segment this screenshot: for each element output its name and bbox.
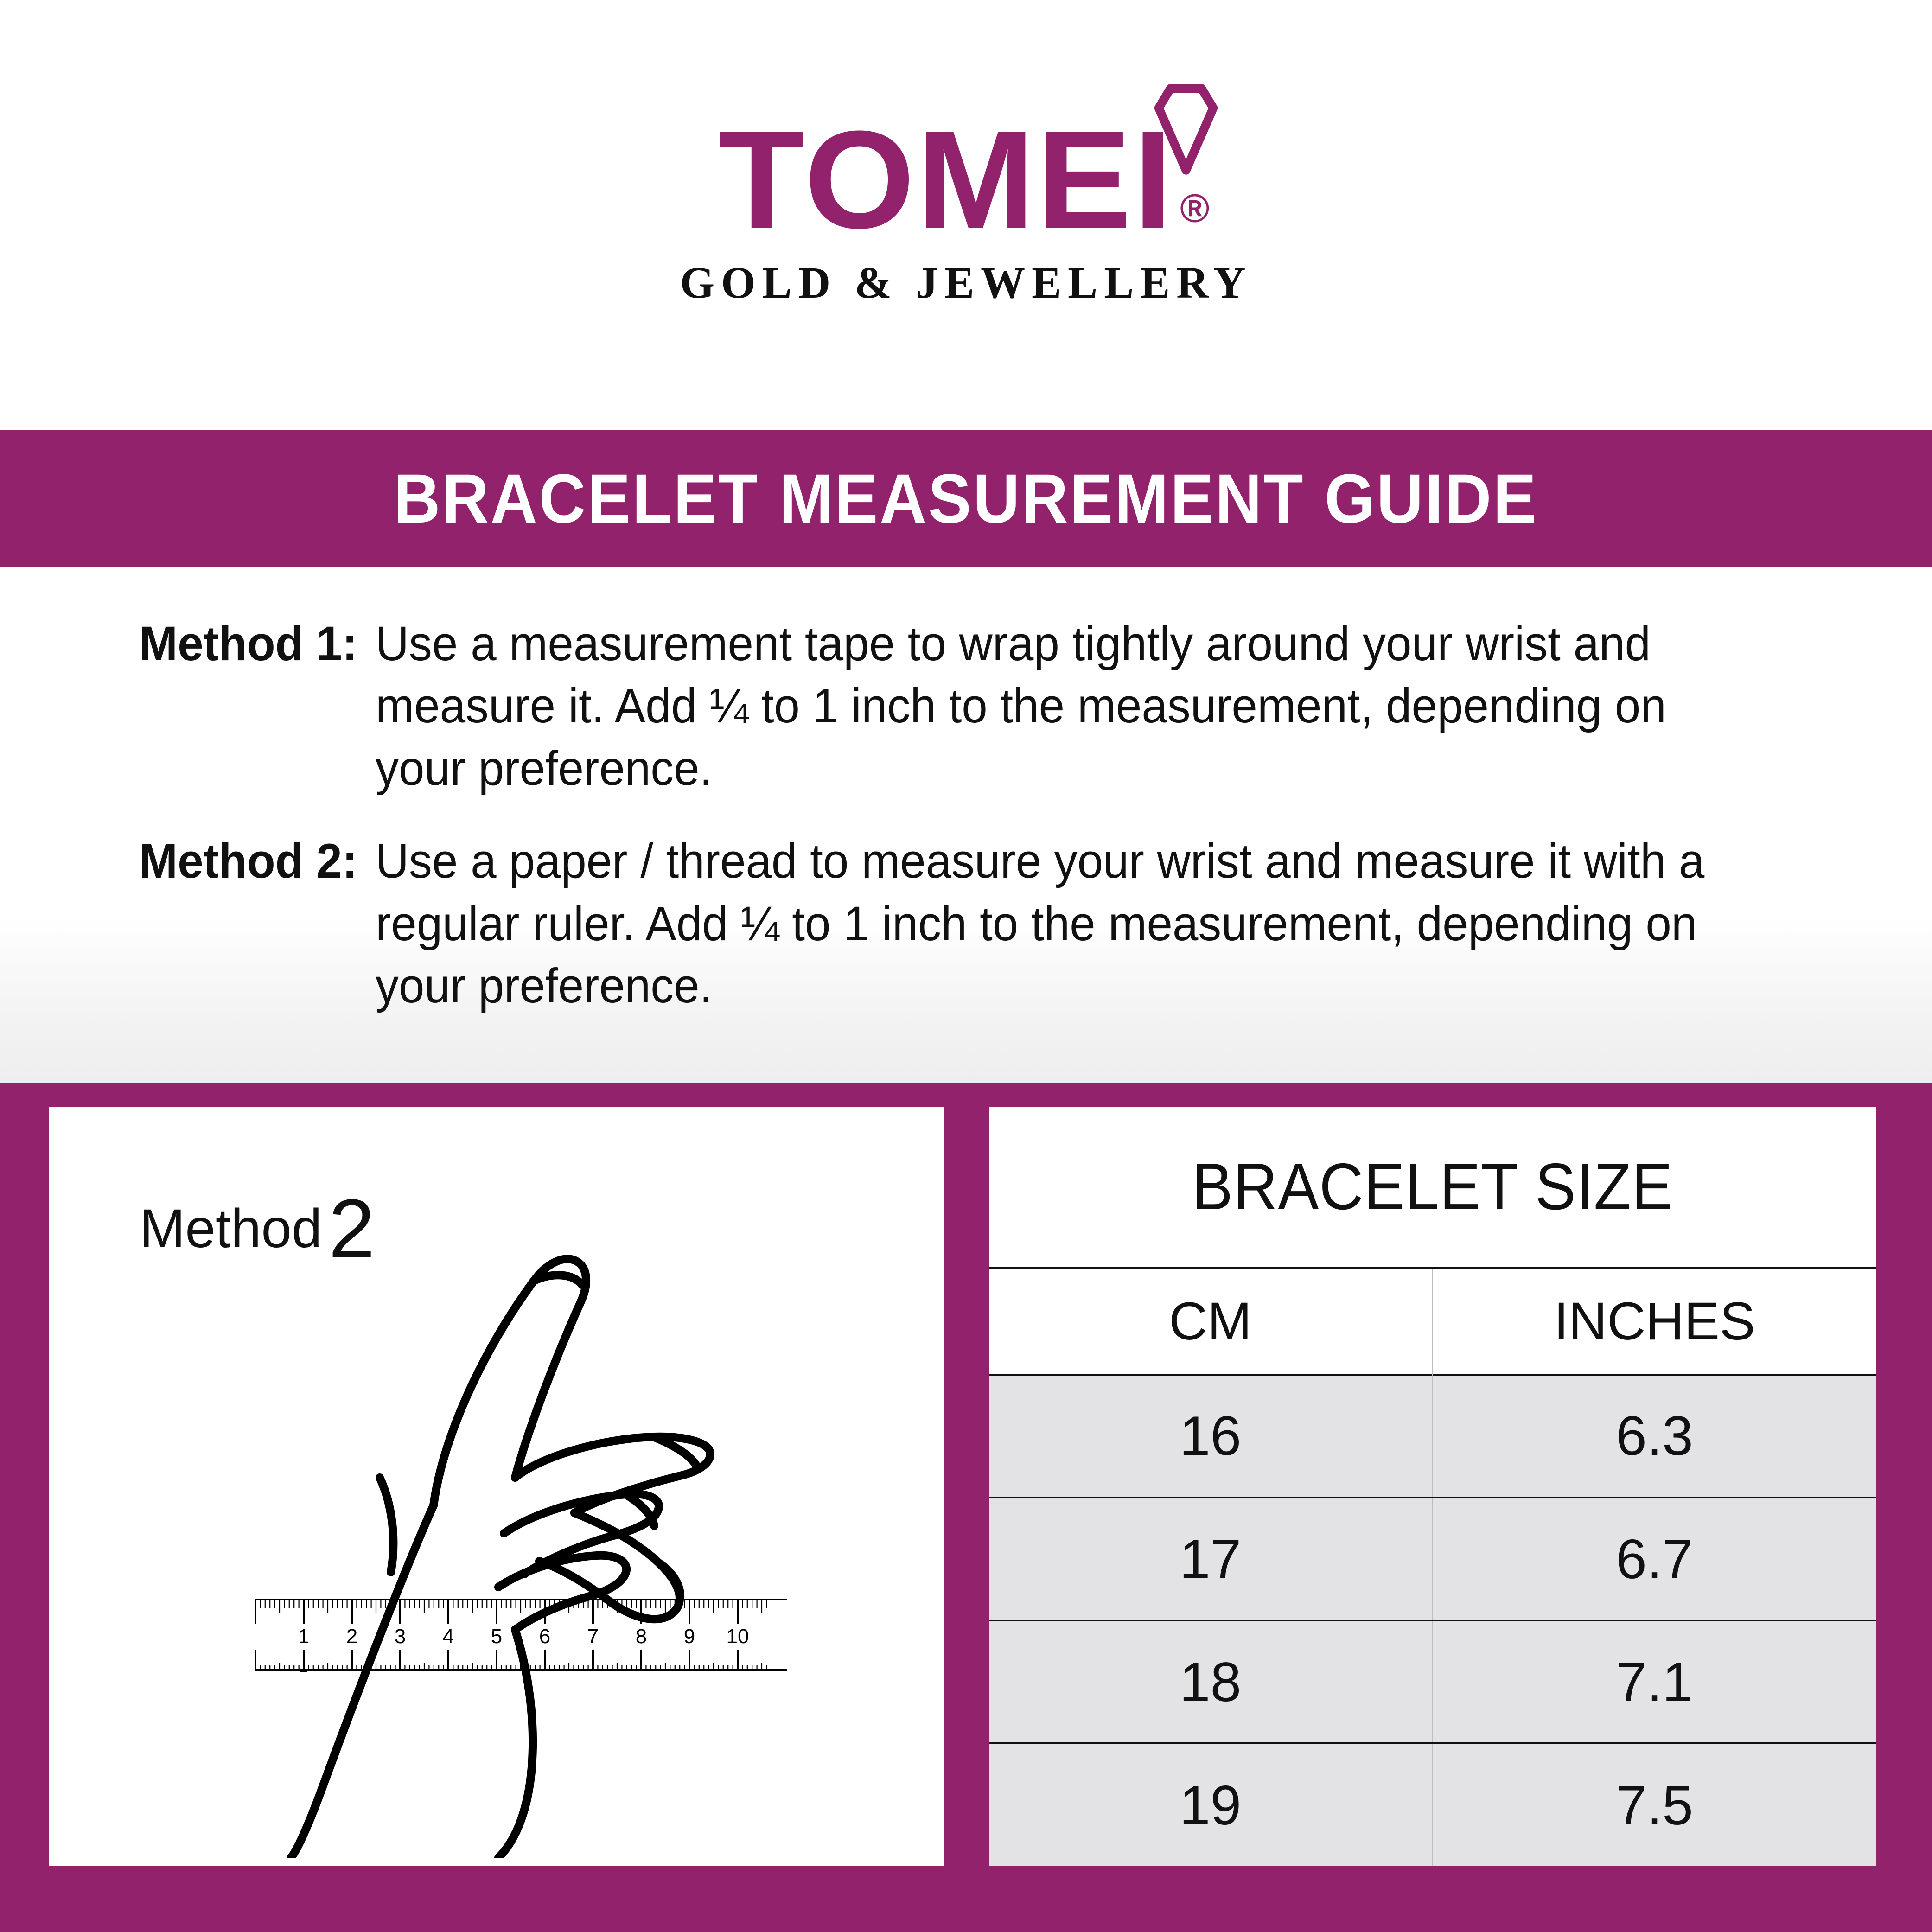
svg-text:9: 9 [684, 1625, 695, 1648]
cell-inches: 6.7 [1433, 1498, 1876, 1620]
svg-text:5: 5 [491, 1625, 502, 1648]
method-1-block: Method 1: Use a measurement tape to wrap… [139, 613, 1793, 800]
column-header-cm: CM [989, 1269, 1433, 1375]
bracelet-size-table: CM INCHES 16 6.3 17 6.7 18 7.1 19 [989, 1269, 1876, 1866]
brand-logo: TOMEI ® GOLD & JEWELLERY [680, 122, 1252, 308]
wordmark-text: TOMEI [718, 122, 1174, 236]
table-header-row: CM INCHES [989, 1269, 1876, 1375]
column-header-inches: INCHES [1433, 1269, 1876, 1375]
hand-pinch-icon [165, 1199, 777, 1860]
cell-cm: 17 [989, 1498, 1433, 1620]
ruler-icon: 12345678910 [253, 1591, 791, 1675]
bracelet-size-card: BRACELET SIZE CM INCHES 16 6.3 17 6.7 [989, 1107, 1876, 1866]
svg-text:1: 1 [298, 1625, 309, 1648]
cell-cm: 18 [989, 1620, 1433, 1743]
wordmark-row: TOMEI ® [723, 122, 1210, 236]
table-row: 19 7.5 [989, 1743, 1876, 1866]
cell-inches: 6.3 [1433, 1375, 1876, 1498]
svg-text:7: 7 [587, 1625, 599, 1648]
table-row: 18 7.1 [989, 1620, 1876, 1743]
table-row: 16 6.3 [989, 1375, 1876, 1498]
cell-cm: 19 [989, 1743, 1433, 1866]
size-card-title: BRACELET SIZE [1192, 1149, 1673, 1225]
logo-section: TOMEI ® GOLD & JEWELLERY [0, 0, 1932, 430]
method-2-illustration-card: Method2 [49, 1107, 944, 1866]
methods-section: Method 1: Use a measurement tape to wrap… [0, 567, 1932, 1083]
svg-text:3: 3 [395, 1625, 406, 1648]
svg-text:8: 8 [636, 1625, 647, 1648]
cell-cm: 16 [989, 1375, 1433, 1498]
method-1-label: Method 1: [139, 613, 357, 800]
cell-inches: 7.1 [1433, 1620, 1876, 1743]
registered-trademark-icon: ® [1180, 192, 1209, 225]
svg-text:10: 10 [727, 1625, 749, 1648]
cell-inches: 7.5 [1433, 1743, 1876, 1866]
bottom-purple-section: Method2 [0, 1083, 1932, 1932]
method-2-body: Use a paper / thread to measure your wri… [376, 830, 1722, 1017]
page-title: BRACELET MEASUREMENT GUIDE [394, 459, 1538, 539]
brand-tagline: GOLD & JEWELLERY [680, 257, 1252, 308]
size-card-title-row: BRACELET SIZE [989, 1107, 1876, 1269]
title-banner: BRACELET MEASUREMENT GUIDE [0, 430, 1932, 567]
table-row: 17 6.7 [989, 1498, 1876, 1620]
method-1-body: Use a measurement tape to wrap tightly a… [376, 613, 1722, 800]
method-2-label: Method 2: [139, 830, 357, 1017]
svg-text:4: 4 [443, 1625, 454, 1648]
method-2-block: Method 2: Use a paper / thread to measur… [139, 830, 1793, 1017]
svg-text:2: 2 [346, 1625, 357, 1648]
svg-text:6: 6 [539, 1625, 550, 1648]
